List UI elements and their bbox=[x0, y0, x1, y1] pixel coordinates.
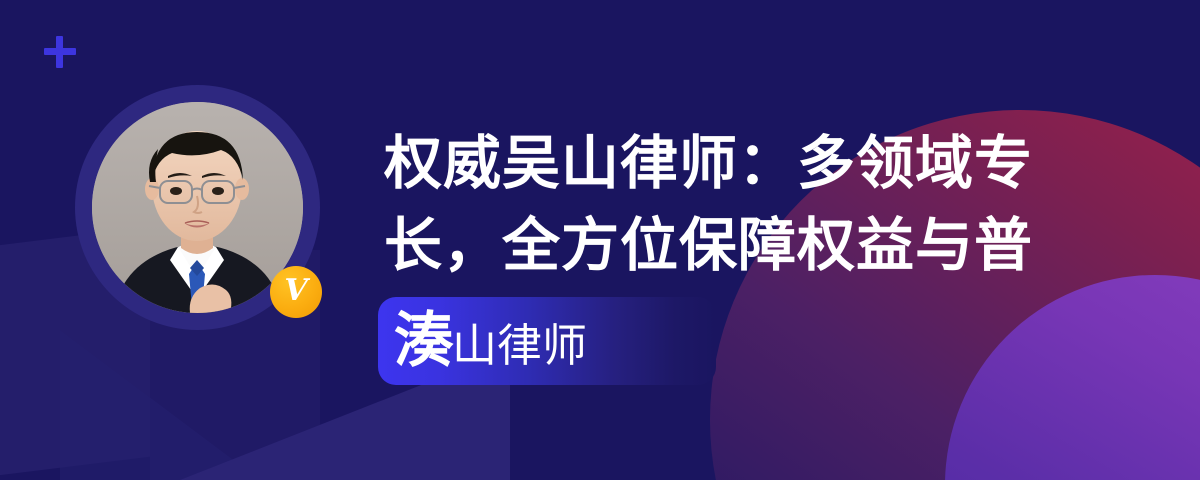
lawyer-name-primary: 湊 bbox=[394, 311, 454, 371]
lawyer-name-secondary: 山律师 bbox=[452, 323, 587, 368]
promo-banner: V 权威吴山律师：多领域专 长，全方位保障权益与普 湊 山律师 bbox=[0, 0, 1200, 480]
facet-wedge-secondary-decoration bbox=[60, 330, 260, 480]
verified-badge-glyph: V bbox=[284, 276, 307, 306]
verified-badge: V bbox=[270, 266, 322, 318]
page-title: 权威吴山律师：多领域专 长，全方位保障权益与普 bbox=[384, 122, 1084, 286]
plus-icon bbox=[44, 36, 76, 68]
lawyer-name-chip[interactable]: 湊 山律师 bbox=[378, 297, 716, 385]
violet-orb-decoration bbox=[945, 275, 1200, 480]
plus-icon-vertical-bar bbox=[56, 36, 63, 68]
avatar: V bbox=[75, 85, 320, 330]
